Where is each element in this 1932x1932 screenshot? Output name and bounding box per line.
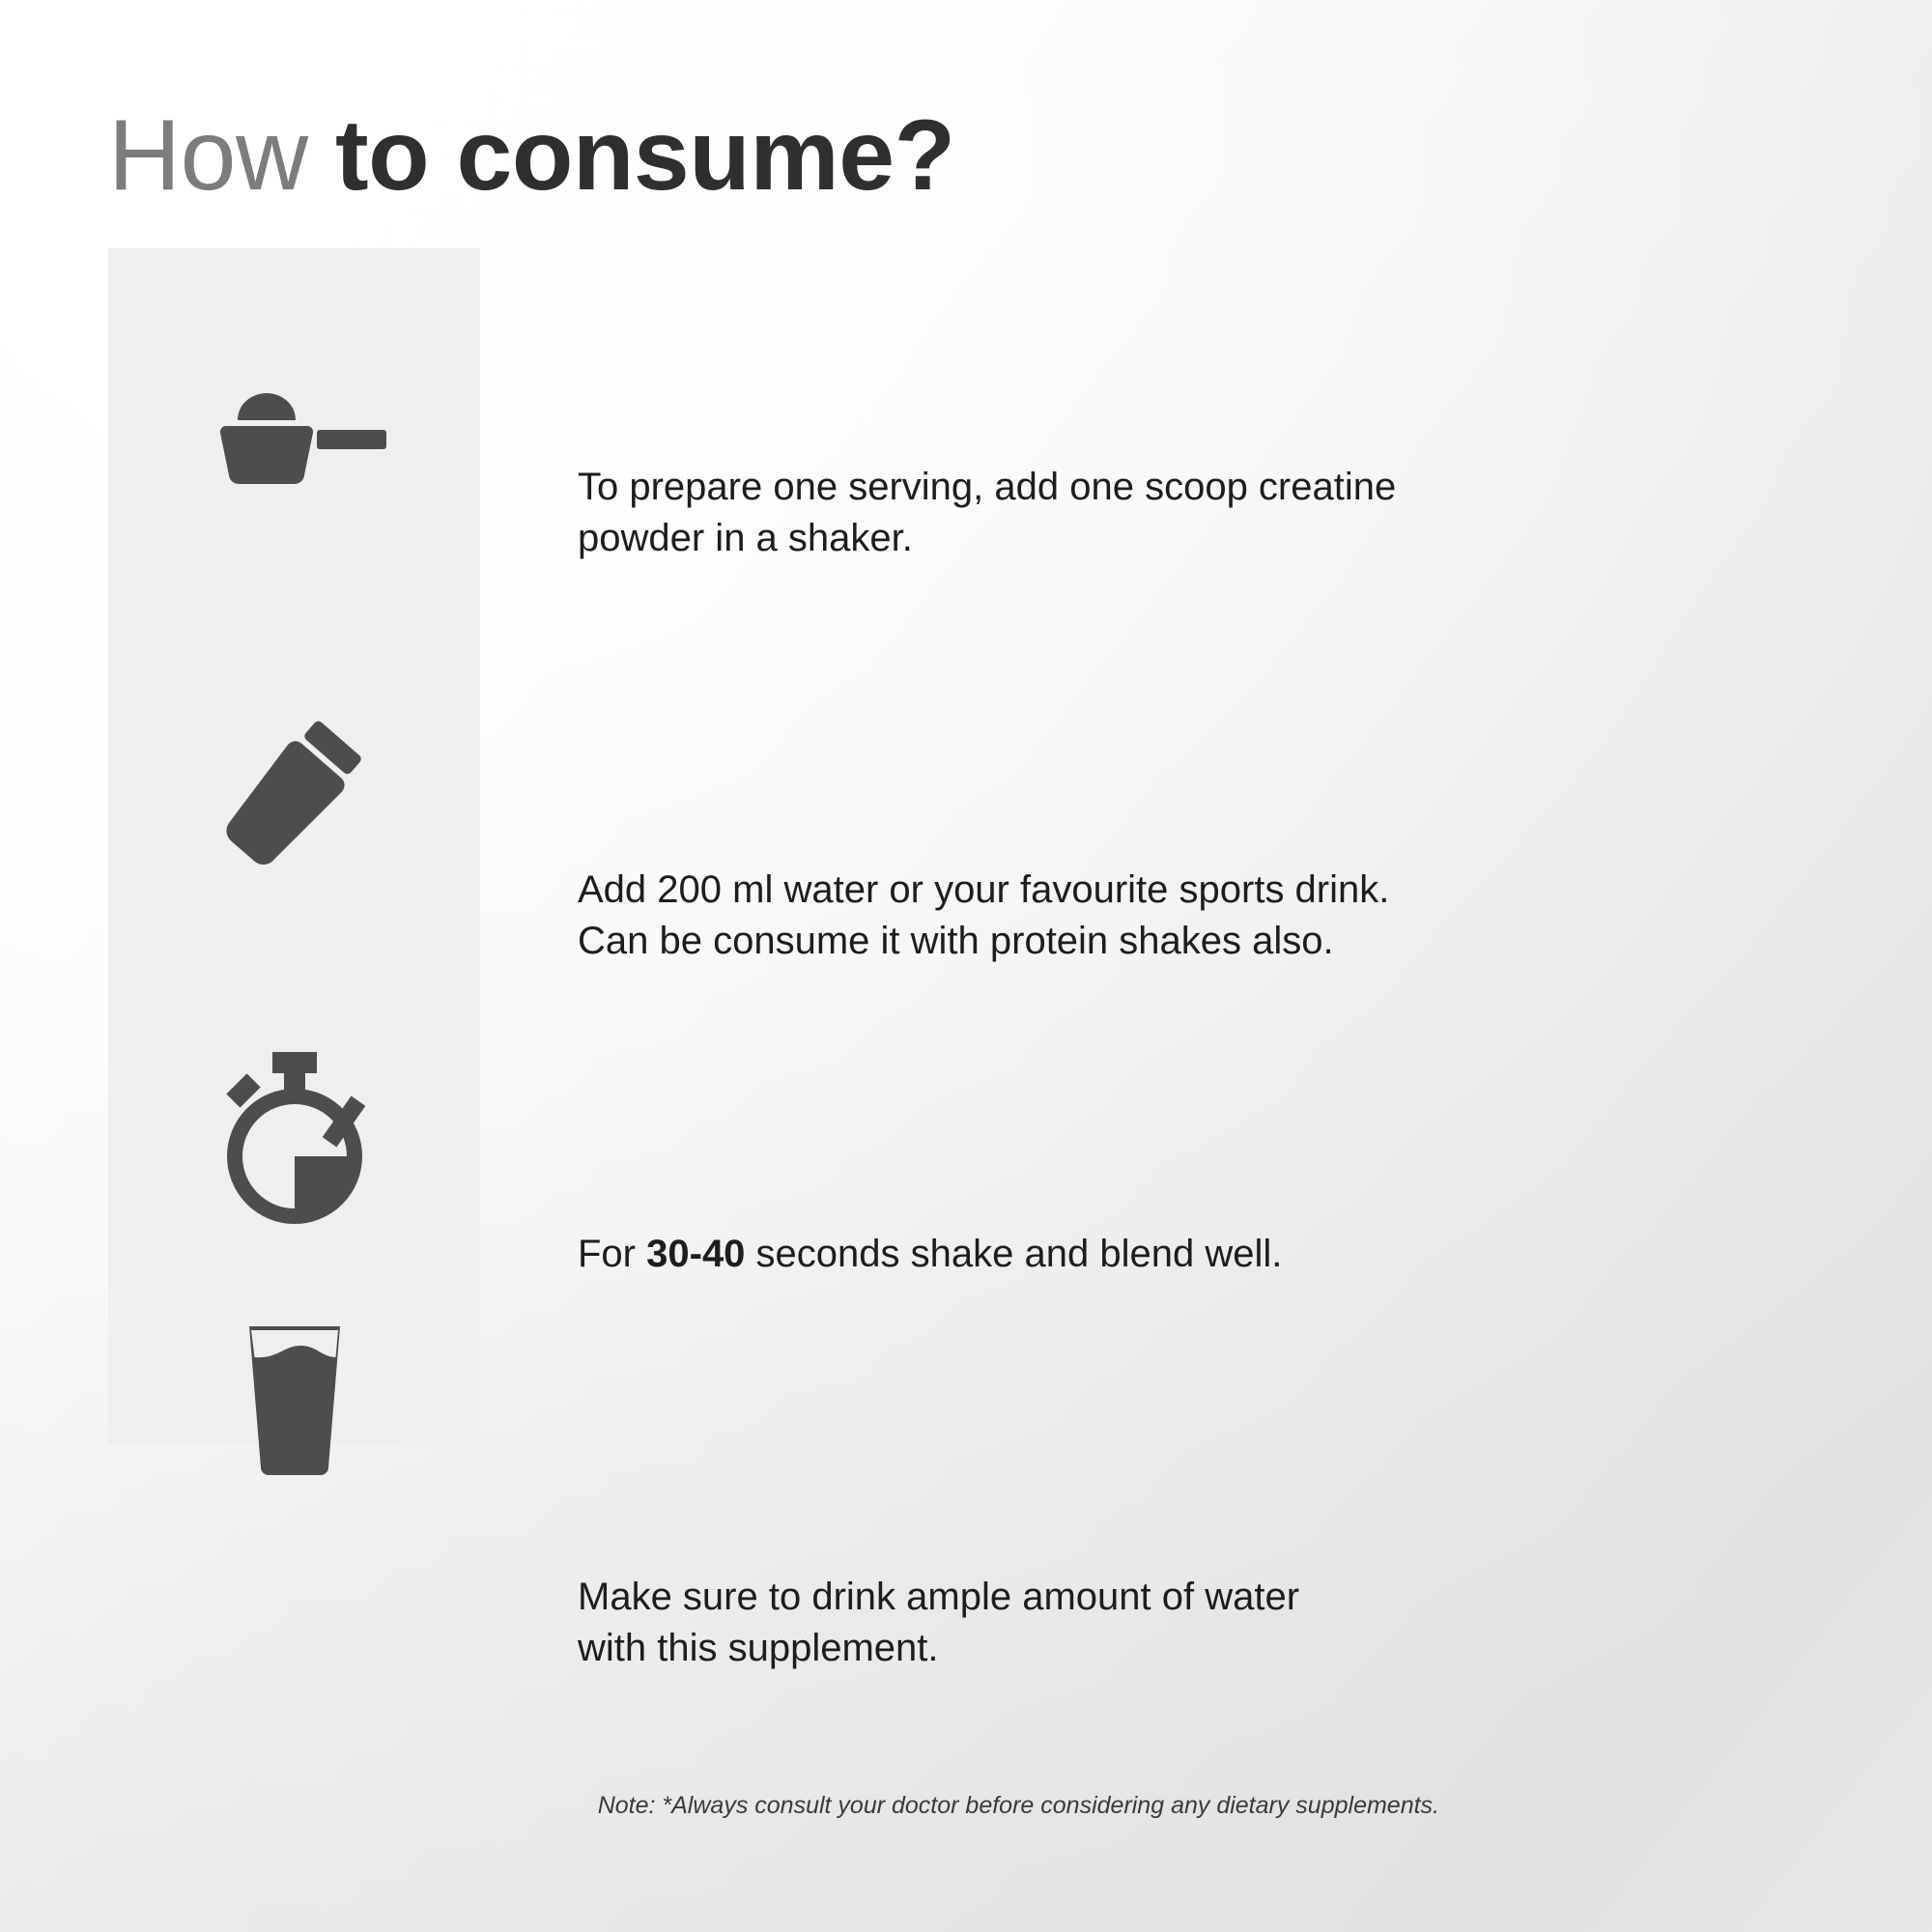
step-icon-2 [108,1040,480,1234]
stopwatch-icon [213,1050,377,1224]
step-icon-3 [108,1301,480,1494]
step-text-1-line2: Can be consume it with protein shakes al… [578,916,1428,967]
step-text-0-line1: To prepare one serving, add one scoop cr… [578,462,1428,513]
step-text-2-prefix: For [578,1233,646,1275]
step-text-0: To prepare one serving, add one scoop cr… [578,462,1428,564]
step-text-2-suffix: seconds shake and blend well. [745,1233,1282,1275]
step-icon-0 [108,355,480,528]
page-title: How to consume? [108,99,955,212]
step-text-1-line1: Add 200 ml water or your favourite sport… [578,865,1428,916]
icon-panel [108,248,480,1444]
step-text-3-line1: Make sure to drink ample amount of water [578,1572,1428,1623]
water-glass-icon [232,1321,357,1475]
shaker-bottle-icon [208,712,382,886]
step-text-1: Add 200 ml water or your favourite sport… [578,865,1428,967]
page-title-bold: to consume? [335,99,955,212]
page-title-light: How [108,99,335,212]
footer-note: Note: *Always consult your doctor before… [570,1792,1439,1820]
step-text-0-line2: powder in a shaker. [578,513,1428,564]
scoop-icon [203,393,386,490]
step-text-3: Make sure to drink ample amount of water… [578,1572,1428,1674]
step-text-3-line2: with this supplement. [578,1623,1428,1674]
step-text-2: For 30-40 seconds shake and blend well. [578,1229,1428,1280]
step-duration-value: 30-40 [646,1233,745,1275]
step-icon-1 [108,702,480,895]
infographic-page: How to consume? [0,0,1932,1932]
step-text-2-line1: For 30-40 seconds shake and blend well. [578,1229,1428,1280]
